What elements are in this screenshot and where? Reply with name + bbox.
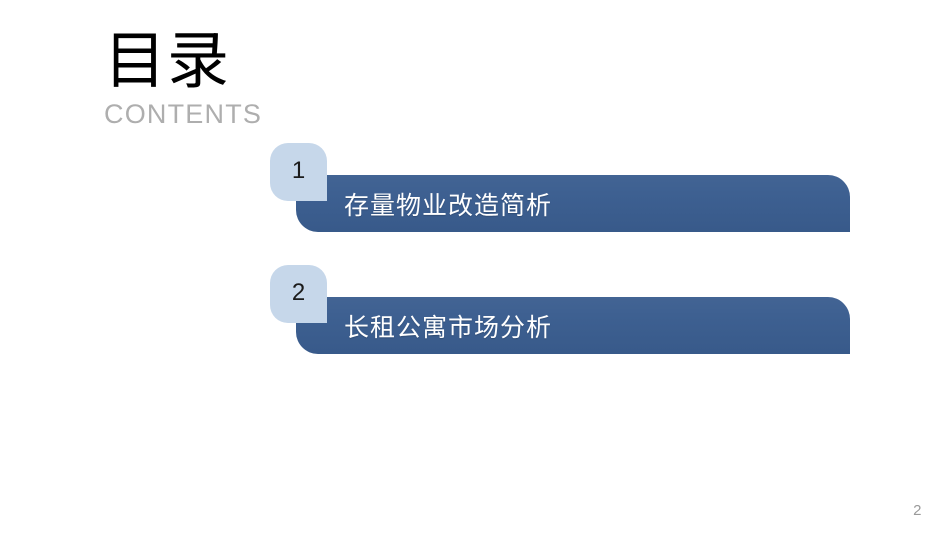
contents-item-label: 长租公寓市场分析 <box>344 297 552 354</box>
list-item[interactable]: 长租公寓市场分析 2 <box>0 265 950 365</box>
contents-number-label: 2 <box>270 265 327 323</box>
slide-canvas: 目录 CONTENTS 存量物业改造简析 1 长租公寓市场分析 2 2 <box>0 0 950 535</box>
page-title-chinese: 目录 <box>104 28 404 96</box>
contents-item-label: 存量物业改造简析 <box>344 175 552 232</box>
page-title: 目录 CONTENTS <box>104 28 404 129</box>
page-number: 2 <box>913 502 922 519</box>
list-item[interactable]: 存量物业改造简析 1 <box>0 143 950 243</box>
contents-number-badge[interactable]: 2 <box>270 265 327 323</box>
contents-number-label: 1 <box>270 143 327 201</box>
contents-bar[interactable]: 存量物业改造简析 <box>296 175 850 232</box>
contents-bar[interactable]: 长租公寓市场分析 <box>296 297 850 354</box>
page-title-english: CONTENTS <box>104 99 404 129</box>
contents-number-badge[interactable]: 1 <box>270 143 327 201</box>
